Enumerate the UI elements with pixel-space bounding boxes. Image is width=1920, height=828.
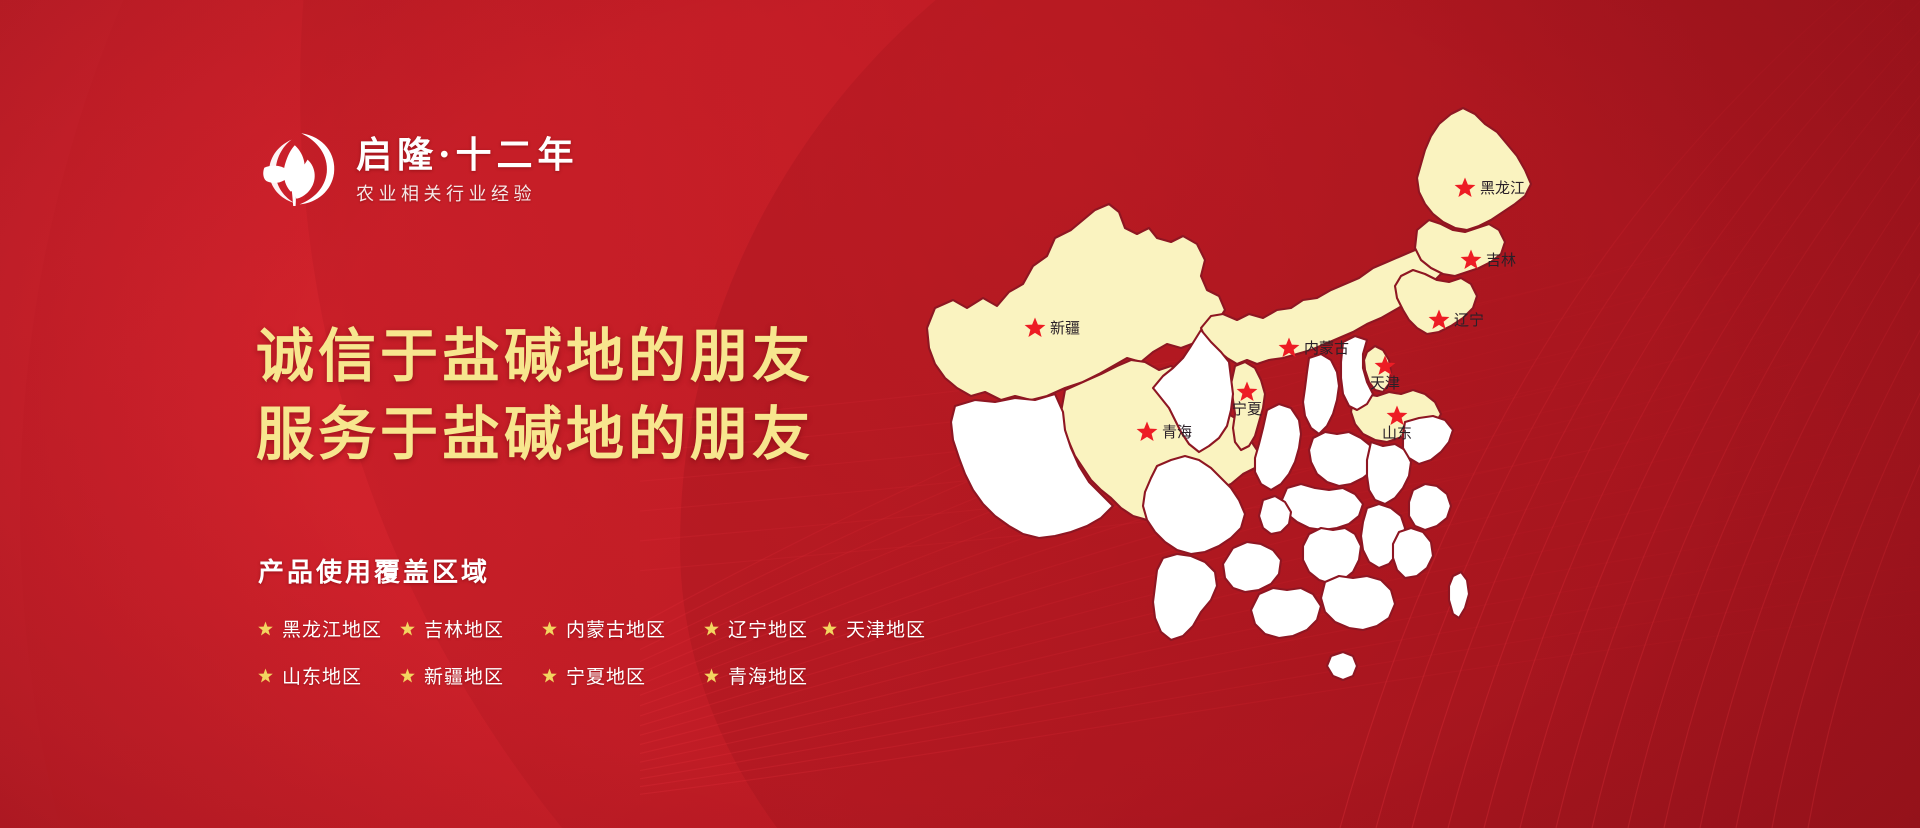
coverage-region-list: 黑龙江地区吉林地区内蒙古地区辽宁地区天津地区山东地区新疆地区宁夏地区青海地区	[258, 615, 1018, 689]
province-yunnan	[1153, 554, 1217, 640]
province-hunan	[1303, 528, 1361, 584]
province-shanxi	[1303, 354, 1339, 434]
brand-text: 启隆·十二年 农业相关行业经验	[356, 135, 579, 206]
china-coverage-map: 黑龙江吉林辽宁天津山东内蒙古宁夏新疆青海	[905, 70, 1605, 770]
star-icon	[400, 668, 415, 683]
lotus-circle-icon	[258, 128, 338, 212]
province-fujian	[1393, 528, 1433, 578]
province-zhejiang	[1409, 484, 1451, 530]
coverage-region-item[interactable]: 黑龙江地区	[258, 615, 400, 642]
province-taiwan	[1449, 572, 1469, 618]
coverage-region-label: 山东地区	[282, 662, 362, 689]
coverage-region-label: 内蒙古地区	[566, 615, 666, 642]
map-marker-label: 青海	[1162, 423, 1192, 441]
coverage-region-label: 吉林地区	[424, 615, 504, 642]
coverage-region-item[interactable]: 山东地区	[258, 662, 400, 689]
province-guangxi	[1251, 588, 1321, 638]
star-icon	[542, 621, 557, 636]
coverage-title: 产品使用覆盖区域	[258, 552, 1018, 589]
coverage-region-item[interactable]: 宁夏地区	[542, 662, 704, 689]
headline: 诚信于盐碱地的朋友 服务于盐碱地的朋友	[256, 318, 814, 473]
map-marker-label: 内蒙古	[1304, 339, 1349, 357]
star-icon	[542, 668, 557, 683]
map-marker-label: 辽宁	[1454, 311, 1484, 329]
headline-line-2: 服务于盐碱地的朋友	[256, 396, 814, 474]
province-heilongjiang	[1417, 108, 1531, 230]
coverage-region-label: 黑龙江地区	[282, 615, 382, 642]
star-icon	[258, 668, 273, 683]
coverage-region-label: 青海地区	[728, 662, 808, 689]
brand-title: 启隆·十二年	[356, 135, 579, 176]
map-marker-label: 新疆	[1050, 319, 1080, 337]
coverage-section: 产品使用覆盖区域 黑龙江地区吉林地区内蒙古地区辽宁地区天津地区山东地区新疆地区宁…	[258, 552, 1018, 689]
star-icon	[400, 621, 415, 636]
coverage-region-label: 新疆地区	[424, 662, 504, 689]
headline-line-1: 诚信于盐碱地的朋友	[256, 318, 814, 396]
coverage-region-item[interactable]: 辽宁地区	[704, 615, 822, 642]
map-marker-label: 山东	[1382, 424, 1412, 442]
map-marker-label: 黑龙江	[1480, 179, 1525, 197]
map-container: 黑龙江吉林辽宁天津山东内蒙古宁夏新疆青海	[905, 70, 1605, 770]
star-icon	[704, 668, 719, 683]
map-marker-label: 宁夏	[1232, 400, 1262, 418]
brand-logo: 启隆·十二年 农业相关行业经验	[258, 128, 579, 212]
province-hainan	[1327, 652, 1357, 680]
coverage-region-item[interactable]: 青海地区	[704, 662, 822, 689]
promo-banner: 启隆·十二年 农业相关行业经验 诚信于盐碱地的朋友 服务于盐碱地的朋友 产品使用…	[0, 0, 1920, 828]
brand-subtitle: 农业相关行业经验	[356, 184, 579, 206]
star-icon	[822, 621, 837, 636]
star-icon	[258, 621, 273, 636]
province-guangdong	[1321, 576, 1395, 630]
star-icon	[704, 621, 719, 636]
map-marker-label: 天津	[1370, 374, 1400, 392]
province-hubei	[1281, 484, 1363, 530]
coverage-region-label: 宁夏地区	[566, 662, 646, 689]
coverage-region-item[interactable]: 新疆地区	[400, 662, 542, 689]
coverage-region-label: 辽宁地区	[728, 615, 808, 642]
map-marker-label: 吉林	[1486, 251, 1516, 269]
coverage-region-item[interactable]: 吉林地区	[400, 615, 542, 642]
coverage-region-item[interactable]: 内蒙古地区	[542, 615, 704, 642]
province-guizhou	[1223, 542, 1281, 592]
